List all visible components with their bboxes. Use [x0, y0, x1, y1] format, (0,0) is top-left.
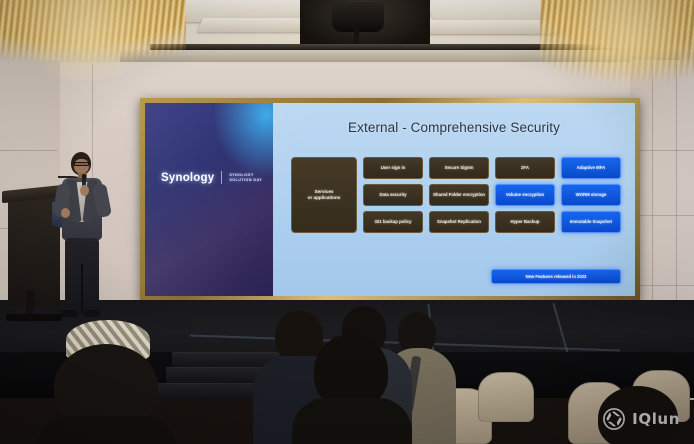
matrix-cell: 2FA	[495, 157, 555, 179]
matrix-cell-highlight: WORM storage	[561, 184, 621, 206]
presenter-shoe	[83, 310, 100, 317]
matrix-cell: Hyper Backup	[495, 211, 555, 233]
slide-title: External - Comprehensive Security	[273, 120, 635, 135]
matrix-grid: User sign in Secure SignIn 2FA Adaptive …	[363, 157, 621, 233]
chandelier-right	[540, 0, 694, 102]
matrix-row-signin: User sign in Secure SignIn 2FA Adaptive …	[363, 157, 621, 179]
presenter-shoe	[61, 310, 78, 317]
crystal-strands	[0, 0, 186, 86]
audience-shoulders	[36, 416, 176, 444]
camera-shutter-icon	[603, 408, 625, 430]
slide-content: External - Comprehensive Security Servic…	[273, 103, 635, 296]
synology-brand-panel: Synology SYNOLOGY SOLUTION DAY	[145, 103, 273, 296]
matrix-row-data-security: Data security Shared Folder encryption V…	[363, 184, 621, 206]
chandelier-left	[0, 0, 186, 86]
audience-shoulders	[292, 398, 412, 444]
matrix-cell: 321 backup policy	[363, 211, 423, 233]
matrix-cell: Shared Folder encryption	[429, 184, 489, 206]
wall-panel-seam	[0, 150, 58, 151]
presenter-hand	[80, 185, 89, 196]
matrix-cell-highlight: Volume encryption	[495, 184, 555, 206]
conference-photo-scene: Synology SYNOLOGY SOLUTION DAY External …	[0, 0, 694, 444]
audience-member	[292, 334, 408, 444]
matrix-cell: Snapshot Replication	[429, 211, 489, 233]
presenter-leg-gap	[81, 264, 83, 312]
matrix-row-backup: 321 backup policy Snapshot Replication H…	[363, 211, 621, 233]
audience-head	[314, 334, 388, 408]
presenter	[52, 152, 114, 327]
diagram-row: Services or applications User sign in Se…	[291, 157, 621, 233]
anchor-label-line1: Services	[315, 189, 334, 194]
anchor-services-or-applications: Services or applications	[291, 157, 357, 233]
presenter-glasses	[74, 162, 89, 166]
legend-new-features: New Features released in 2023	[491, 269, 621, 284]
presenter-hand	[61, 208, 70, 218]
presentation-screen: Synology SYNOLOGY SOLUTION DAY External …	[145, 103, 635, 296]
matrix-cell-highlight: Adaptive MFA	[561, 157, 621, 179]
synology-logo-text: Synology	[161, 172, 214, 184]
synology-logo: Synology SYNOLOGY SOLUTION DAY	[161, 171, 262, 184]
matrix-cell: Secure SignIn	[429, 157, 489, 179]
solution-day-tagline: SYNOLOGY SOLUTION DAY	[229, 173, 262, 183]
matrix-cell: User sign in	[363, 157, 423, 179]
anchor-label-line2: or applications	[308, 195, 341, 200]
watermark-text: IQlun	[632, 410, 680, 428]
crystal-strands	[540, 0, 694, 102]
matrix-cell: Data security	[363, 184, 423, 206]
audience-member-with-beanie	[40, 320, 170, 444]
watermark: IQlun	[603, 408, 680, 430]
logo-divider	[221, 171, 222, 184]
security-matrix-diagram: Services or applications User sign in Se…	[291, 157, 621, 233]
matrix-cell-highlight: Immutable Snapshot	[561, 211, 621, 233]
presentation-screen-frame: Synology SYNOLOGY SOLUTION DAY External …	[140, 98, 640, 301]
audience-chair	[478, 372, 534, 422]
